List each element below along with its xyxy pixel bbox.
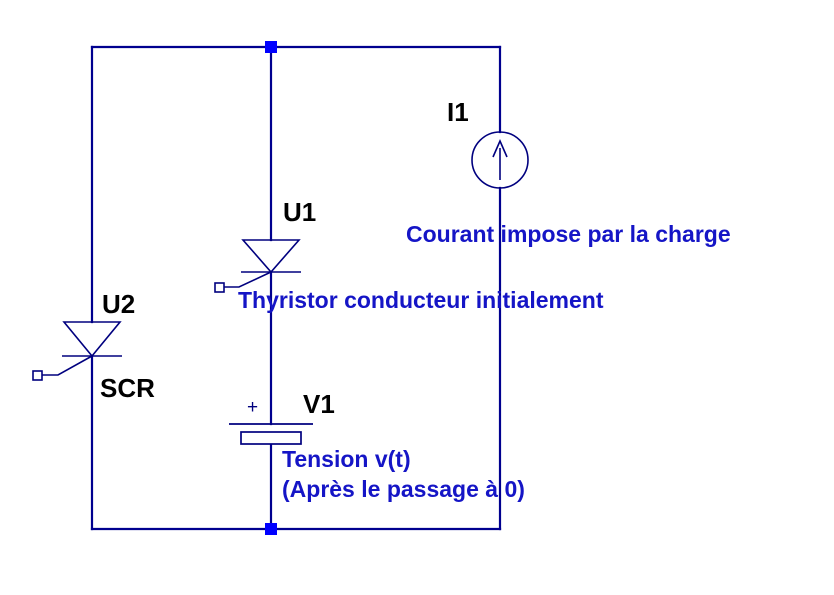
thyristor-u1-triangle bbox=[243, 240, 299, 272]
thyristor-u2-triangle bbox=[64, 322, 120, 356]
battery-negative-plate bbox=[241, 432, 301, 444]
battery-icon[interactable] bbox=[229, 424, 313, 444]
junction-dot-top bbox=[265, 41, 277, 53]
thyristor-icon[interactable] bbox=[215, 240, 301, 292]
thyristor-u1-note: Thyristor conducteur initialement bbox=[238, 288, 604, 313]
thyristor-u2-gate-lead bbox=[42, 356, 92, 375]
circuit-diagram-canvas: U1 U2 SCR I1 V1 + Courant impose par la … bbox=[0, 0, 834, 595]
thyristor-icon[interactable] bbox=[33, 322, 122, 380]
junction-dot-bottom bbox=[265, 523, 277, 535]
current-source-icon[interactable] bbox=[472, 132, 528, 188]
type-label-scr: SCR bbox=[100, 374, 155, 402]
ref-label-v1: V1 bbox=[303, 390, 335, 418]
ref-label-u1: U1 bbox=[283, 198, 316, 226]
gate-terminal-u2[interactable] bbox=[33, 371, 42, 380]
ref-label-i1: I1 bbox=[447, 98, 469, 126]
battery-polarity-plus: + bbox=[247, 398, 258, 419]
ref-label-u2: U2 bbox=[102, 290, 135, 318]
current-source-note: Courant impose par la charge bbox=[406, 222, 731, 247]
voltage-note-line-2: (Après le passage à 0) bbox=[282, 477, 525, 502]
thyristor-u1-gate-lead bbox=[224, 272, 271, 287]
voltage-note-line-1: Tension v(t) bbox=[282, 447, 411, 472]
gate-terminal-u1[interactable] bbox=[215, 283, 224, 292]
